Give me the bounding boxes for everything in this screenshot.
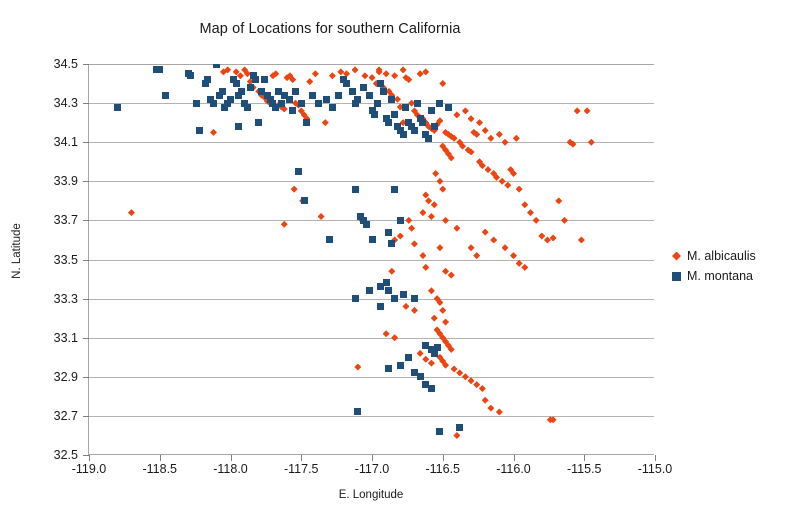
data-point-montana — [227, 96, 234, 103]
legend-item[interactable]: M. albicaulis — [672, 246, 784, 266]
data-point-montana — [391, 111, 398, 118]
data-point-montana — [295, 168, 302, 175]
data-point-montana — [434, 344, 441, 351]
data-point-albicaulis — [402, 303, 409, 310]
data-point-albicaulis — [499, 178, 506, 185]
data-point-albicaulis — [544, 236, 551, 243]
data-point-montana — [301, 197, 308, 204]
data-point-montana — [383, 279, 390, 286]
data-point-montana — [219, 88, 226, 95]
x-axis-tick-label: -117.5 — [284, 462, 319, 476]
data-point-albicaulis — [513, 135, 520, 142]
data-point-montana — [397, 217, 404, 224]
data-point-albicaulis — [422, 68, 429, 75]
data-point-albicaulis — [453, 225, 460, 232]
data-point-albicaulis — [417, 70, 424, 77]
data-point-montana — [196, 127, 203, 134]
x-axis-tick-label: -116.5 — [425, 462, 460, 476]
data-point-albicaulis — [456, 369, 463, 376]
data-point-albicaulis — [400, 66, 407, 73]
chart-title: Map of Locations for southern California — [0, 21, 660, 37]
data-point-montana — [114, 104, 121, 111]
data-point-albicaulis — [439, 186, 446, 193]
data-point-albicaulis — [574, 107, 581, 114]
y-axis-tick-label: 34.3 — [54, 96, 78, 110]
data-point-montana — [428, 107, 435, 114]
data-point-albicaulis — [533, 217, 540, 224]
y-axis-tick-label: 32.5 — [54, 448, 78, 462]
data-point-montana — [204, 76, 211, 83]
data-point-montana — [366, 92, 373, 99]
data-point-montana — [400, 291, 407, 298]
data-point-montana — [377, 303, 384, 310]
legend: M. albicaulisM. montana — [672, 246, 784, 286]
data-point-albicaulis — [431, 315, 438, 322]
data-point-montana — [411, 295, 418, 302]
data-point-albicaulis — [352, 66, 359, 73]
data-point-albicaulis — [550, 234, 557, 241]
data-point-albicaulis — [312, 70, 319, 77]
data-point-montana — [425, 135, 432, 142]
data-point-albicaulis — [502, 244, 509, 251]
data-point-albicaulis — [453, 432, 460, 439]
data-point-albicaulis — [422, 191, 429, 198]
data-point-montana — [402, 104, 409, 111]
data-point-albicaulis — [442, 268, 449, 275]
data-point-montana — [235, 123, 242, 130]
data-point-albicaulis — [291, 186, 298, 193]
data-point-albicaulis — [462, 373, 469, 380]
data-point-montana — [369, 236, 376, 243]
data-point-albicaulis — [442, 217, 449, 224]
x-axis-tick-label: -118.0 — [213, 462, 248, 476]
gridline-horizontal — [89, 181, 654, 182]
data-point-montana — [354, 408, 361, 415]
y-axis-tick-label: 32.9 — [54, 370, 78, 384]
data-point-montana — [289, 107, 296, 114]
data-point-montana — [261, 76, 268, 83]
data-point-montana — [419, 119, 426, 126]
data-point-montana — [411, 127, 418, 134]
data-point-albicaulis — [411, 307, 418, 314]
data-point-montana — [193, 100, 200, 107]
x-axis-tick-label: -119.0 — [72, 462, 107, 476]
data-point-albicaulis — [337, 68, 344, 75]
data-point-albicaulis — [422, 356, 429, 363]
x-axis-tick — [160, 455, 161, 461]
data-point-montana — [366, 287, 373, 294]
data-point-montana — [326, 236, 333, 243]
data-point-montana — [354, 96, 361, 103]
data-point-montana — [391, 186, 398, 193]
data-point-montana — [187, 72, 194, 79]
data-point-albicaulis — [431, 201, 438, 208]
data-point-albicaulis — [496, 131, 503, 138]
y-axis-tick-label: 33.1 — [54, 331, 78, 345]
data-point-albicaulis — [476, 119, 483, 126]
x-axis-tick-label: -115.0 — [638, 462, 673, 476]
data-point-montana — [292, 88, 299, 95]
data-point-albicaulis — [361, 72, 368, 79]
data-point-montana — [456, 424, 463, 431]
y-axis-tick — [83, 338, 89, 339]
y-axis-tick — [83, 181, 89, 182]
y-axis-tick — [83, 416, 89, 417]
data-point-albicaulis — [521, 264, 528, 271]
data-point-montana — [335, 92, 342, 99]
data-point-albicaulis — [425, 197, 432, 204]
data-point-montana — [388, 96, 395, 103]
data-point-montana — [377, 80, 384, 87]
y-axis-tick-label: 34.1 — [54, 135, 78, 149]
data-point-albicaulis — [482, 229, 489, 236]
y-axis-tick-label: 33.5 — [54, 253, 78, 267]
plot-frame: 32.532.732.933.133.333.533.733.934.134.3… — [88, 64, 654, 455]
data-point-montana — [329, 104, 336, 111]
data-point-montana — [352, 295, 359, 302]
data-point-montana — [397, 362, 404, 369]
legend-item[interactable]: M. montana — [672, 266, 784, 286]
data-point-albicaulis — [383, 70, 390, 77]
data-point-albicaulis — [451, 365, 458, 372]
data-point-montana — [414, 100, 421, 107]
data-point-montana — [162, 92, 169, 99]
data-point-albicaulis — [521, 201, 528, 208]
x-axis-tick-label: -116.0 — [496, 462, 531, 476]
data-point-albicaulis — [329, 72, 336, 79]
x-axis-tick — [372, 455, 373, 461]
data-point-albicaulis — [473, 381, 480, 388]
data-point-montana — [238, 88, 245, 95]
data-point-montana — [343, 80, 350, 87]
gridline-horizontal — [89, 299, 654, 300]
data-point-montana — [278, 100, 285, 107]
data-point-montana — [405, 354, 412, 361]
data-point-montana — [286, 96, 293, 103]
data-point-albicaulis — [439, 80, 446, 87]
data-point-montana — [417, 373, 424, 380]
data-point-albicaulis — [306, 78, 313, 85]
x-axis-tick — [584, 455, 585, 461]
data-point-albicaulis — [588, 139, 595, 146]
y-axis-tick-label: 33.7 — [54, 213, 78, 227]
y-axis-tick-label: 33.3 — [54, 292, 78, 306]
data-point-montana — [303, 119, 310, 126]
data-point-albicaulis — [561, 217, 568, 224]
data-point-albicaulis — [442, 319, 449, 326]
data-point-montana — [428, 385, 435, 392]
data-point-montana — [391, 295, 398, 302]
gridline-horizontal — [89, 64, 654, 65]
data-point-albicaulis — [487, 135, 494, 142]
data-point-albicaulis — [369, 74, 376, 81]
data-point-albicaulis — [578, 236, 585, 243]
data-point-albicaulis — [436, 244, 443, 251]
data-point-albicaulis — [417, 350, 424, 357]
data-point-montana — [247, 84, 254, 91]
data-point-albicaulis — [482, 127, 489, 134]
data-point-albicaulis — [391, 334, 398, 341]
data-point-albicaulis — [436, 178, 443, 185]
y-axis-title: N. Latitude — [11, 206, 23, 296]
data-point-albicaulis — [555, 197, 562, 204]
y-axis-tick-label: 33.9 — [54, 174, 78, 188]
data-point-albicaulis — [448, 272, 455, 279]
data-point-albicaulis — [502, 139, 509, 146]
y-axis-tick — [83, 142, 89, 143]
x-axis-tick-label: -115.5 — [567, 462, 602, 476]
y-axis-tick — [83, 220, 89, 221]
data-point-albicaulis — [411, 240, 418, 247]
data-point-albicaulis — [516, 260, 523, 267]
data-point-albicaulis — [432, 170, 439, 177]
data-point-montana — [380, 88, 387, 95]
data-point-albicaulis — [496, 408, 503, 415]
data-point-albicaulis — [128, 209, 135, 216]
data-point-montana — [385, 287, 392, 294]
data-point-montana — [352, 186, 359, 193]
data-point-albicaulis — [479, 385, 486, 392]
data-point-montana — [388, 240, 395, 247]
data-point-albicaulis — [281, 221, 288, 228]
data-point-montana — [255, 119, 262, 126]
data-point-montana — [233, 80, 240, 87]
square-marker-icon — [672, 272, 681, 281]
legend-label: M. albicaulis — [687, 249, 756, 263]
y-axis-tick — [83, 377, 89, 378]
data-point-montana — [436, 100, 443, 107]
data-point-albicaulis — [428, 213, 435, 220]
y-axis-tick — [83, 64, 89, 65]
data-point-montana — [400, 131, 407, 138]
x-axis-tick-label: -117.0 — [355, 462, 390, 476]
data-point-montana — [436, 428, 443, 435]
diamond-marker-icon — [672, 252, 681, 261]
data-point-albicaulis — [391, 72, 398, 79]
data-point-albicaulis — [408, 225, 415, 232]
data-point-albicaulis — [462, 107, 469, 114]
data-point-albicaulis — [527, 209, 534, 216]
data-point-albicaulis — [473, 252, 480, 259]
data-point-montana — [156, 66, 163, 73]
x-axis-tick — [301, 455, 302, 461]
data-point-albicaulis — [419, 209, 426, 216]
gridline-horizontal — [89, 220, 654, 221]
data-point-albicaulis — [439, 307, 446, 314]
x-axis-tick — [231, 455, 232, 461]
data-point-montana — [374, 100, 381, 107]
data-point-albicaulis — [428, 360, 435, 367]
data-point-montana — [385, 119, 392, 126]
x-axis-tick — [655, 455, 656, 461]
data-point-albicaulis — [516, 186, 523, 193]
data-point-albicaulis — [318, 213, 325, 220]
data-point-montana — [315, 100, 322, 107]
data-point-montana — [349, 88, 356, 95]
x-axis-tick — [89, 455, 90, 461]
y-axis-tick — [83, 260, 89, 261]
data-point-albicaulis — [490, 236, 497, 243]
data-point-albicaulis — [482, 397, 489, 404]
data-point-montana — [210, 100, 217, 107]
data-point-montana — [323, 96, 330, 103]
chart-root: Map of Locations for southern California… — [0, 0, 787, 526]
data-point-montana — [385, 365, 392, 372]
data-point-montana — [445, 104, 452, 111]
data-point-albicaulis — [468, 244, 475, 251]
data-point-albicaulis — [397, 233, 404, 240]
data-point-montana — [360, 84, 367, 91]
data-point-montana — [385, 229, 392, 236]
data-point-albicaulis — [510, 252, 517, 259]
data-point-montana — [363, 221, 370, 228]
data-point-albicaulis — [322, 119, 329, 126]
data-point-albicaulis — [504, 182, 511, 189]
y-axis-tick — [83, 103, 89, 104]
x-axis-tick — [443, 455, 444, 461]
gridline-horizontal — [89, 338, 654, 339]
data-point-albicaulis — [422, 264, 429, 271]
data-point-albicaulis — [428, 287, 435, 294]
y-axis-tick-label: 32.7 — [54, 409, 78, 423]
legend-label: M. montana — [687, 269, 753, 283]
data-point-albicaulis — [453, 111, 460, 118]
x-axis-tick — [514, 455, 515, 461]
data-point-albicaulis — [584, 107, 591, 114]
data-point-montana — [298, 100, 305, 107]
plot-area — [89, 64, 654, 454]
data-point-montana — [252, 76, 259, 83]
gridline-horizontal — [89, 260, 654, 261]
gridline-horizontal — [89, 377, 654, 378]
data-point-albicaulis — [468, 115, 475, 122]
data-point-montana — [431, 123, 438, 130]
data-point-montana — [309, 92, 316, 99]
data-point-albicaulis — [487, 405, 494, 412]
x-axis-title: E. Longitude — [88, 489, 654, 501]
data-point-albicaulis — [538, 233, 545, 240]
data-point-albicaulis — [419, 252, 426, 259]
data-point-albicaulis — [468, 377, 475, 384]
data-point-montana — [213, 64, 220, 68]
gridline-horizontal — [89, 103, 654, 104]
data-point-albicaulis — [485, 166, 492, 173]
gridline-horizontal — [89, 416, 654, 417]
x-axis-tick-label: -118.5 — [142, 462, 177, 476]
data-point-albicaulis — [383, 330, 390, 337]
data-point-albicaulis — [388, 268, 395, 275]
data-point-albicaulis — [405, 217, 412, 224]
data-point-montana — [244, 104, 251, 111]
data-point-albicaulis — [210, 129, 217, 136]
y-axis-tick — [83, 299, 89, 300]
y-axis-tick-label: 34.5 — [54, 57, 78, 71]
data-point-albicaulis — [354, 364, 361, 371]
data-point-montana — [371, 111, 378, 118]
